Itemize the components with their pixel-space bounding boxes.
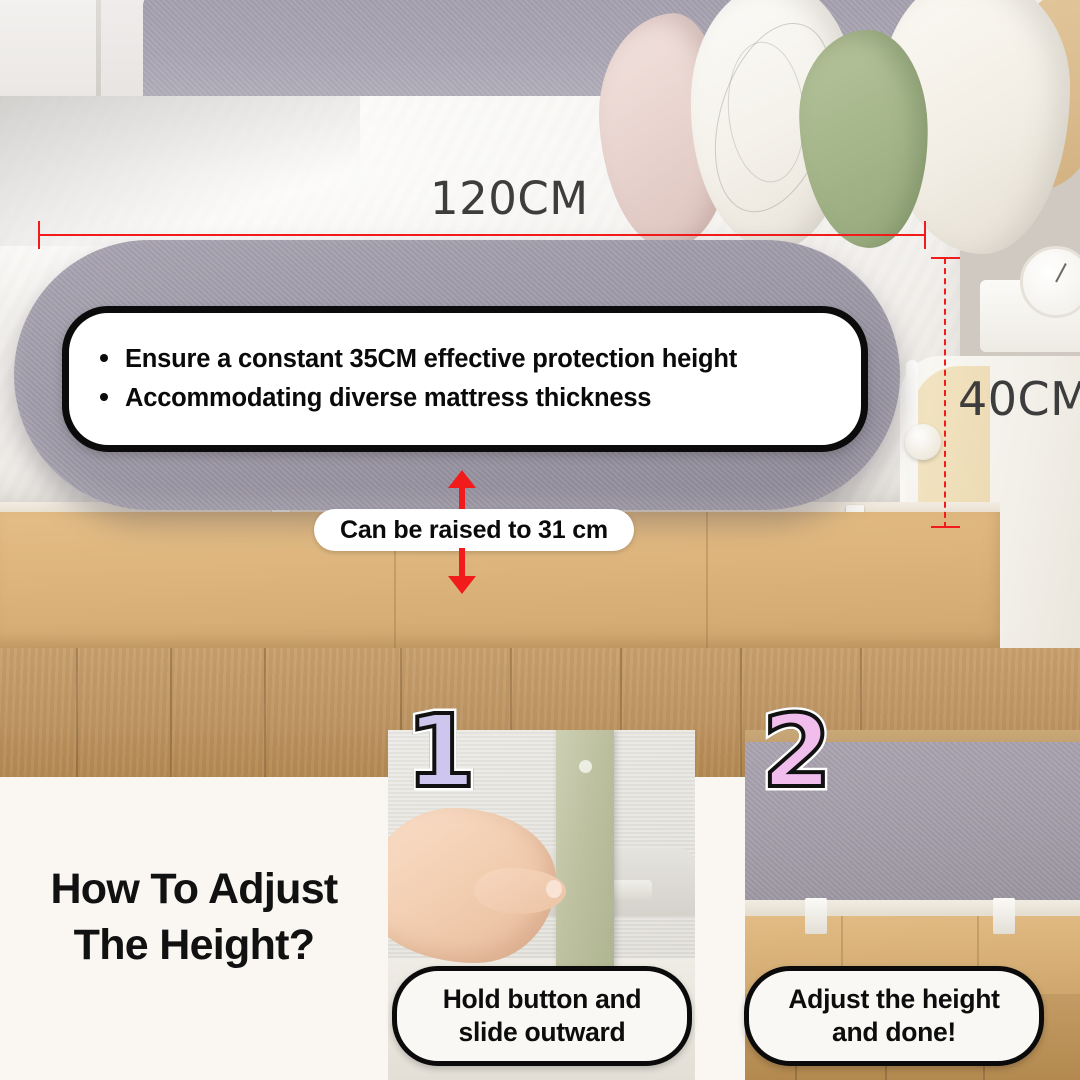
width-dimension-cap-right [924,221,926,249]
step-1-caption-line2: slide outward [443,1016,642,1049]
howto-heading-line1: How To Adjust [0,862,388,918]
step-2-number: 2 2 [762,702,832,802]
arrow-down-icon [445,548,479,594]
support-post [805,898,827,934]
bed-post [556,730,614,995]
width-dimension-line [38,234,926,236]
mattress-shadow [0,96,360,246]
step-1-caption-line1: Hold button and [443,983,642,1016]
support-post [993,898,1015,934]
step-2-number-outline: 2 [762,702,832,802]
step-2-caption-line2: and done! [788,1016,999,1049]
height-dimension-cap-bottom [931,526,960,528]
feature-callout-box: Ensure a constant 35CM effective protect… [62,306,868,452]
raise-height-badge: Can be raised to 31 cm [314,509,634,551]
step-1-number-outline: 1 [406,702,476,802]
howto-heading-line2: The Height? [0,918,388,974]
step-2-caption-line1: Adjust the height [788,983,999,1016]
width-dimension-label: 120CM [430,172,589,225]
feature-list-item: Accommodating diverse mattress thickness [125,379,835,418]
height-dimension-label: 40CM [958,372,1080,426]
step-1-number: 1 1 [406,702,476,802]
frame-knob [905,424,941,460]
step-2-caption: Adjust the height and done! [744,966,1044,1066]
infographic-root: 120CM 40CM Ensure a constant 35CM effect… [0,0,1080,1080]
feature-list: Ensure a constant 35CM effective protect… [69,340,861,418]
step-1-caption: Hold button and slide outward [392,966,692,1066]
height-dimension-line [944,258,946,528]
howto-heading: How To Adjust The Height? [0,862,388,974]
feature-list-item: Ensure a constant 35CM effective protect… [125,340,835,379]
